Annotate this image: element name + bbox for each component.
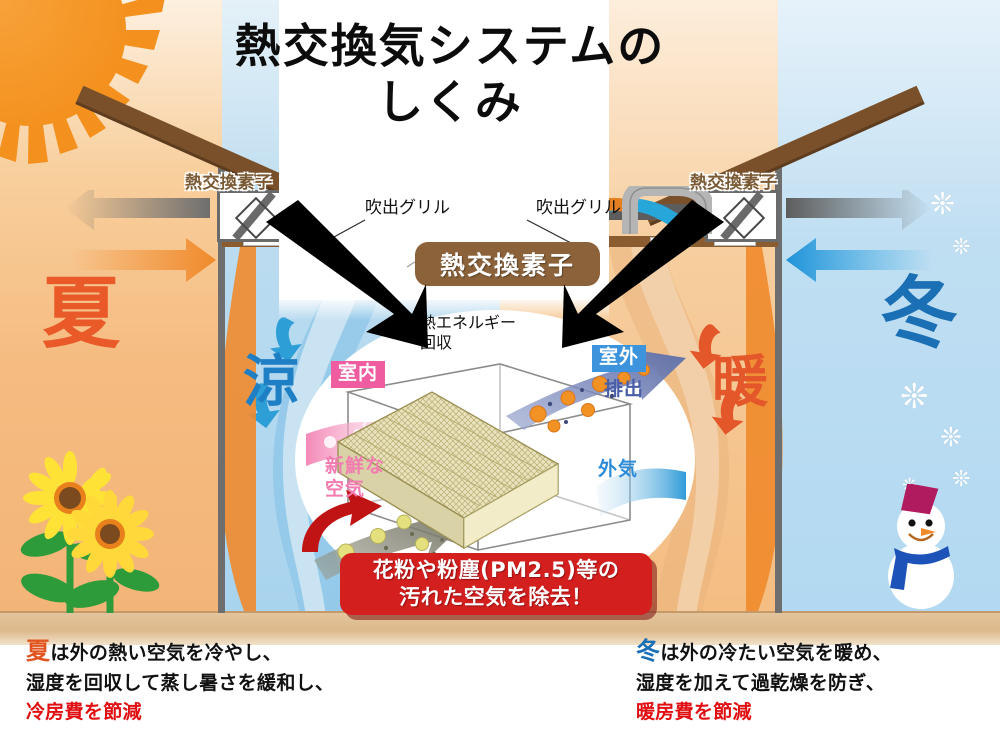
sun-icon [0,0,170,170]
page-title: 熱交換気システムの しくみ [170,18,730,130]
inner-kanji-warm: 暖 [712,355,768,411]
caption-winter-line-2: 湿度を加えて過乾燥を防ぎ、 [636,669,892,698]
tag-outdoor: 室外 [592,345,646,372]
caption-summer-season: 夏 [26,637,50,665]
banner-line-1: 花粉や粉塵(PM2.5)等の [373,557,620,584]
title-line-2: しくみ [170,74,730,130]
caption-winter: 冬は外の冷たい空気を暖め、 湿度を加えて過乾燥を防ぎ、 暖房費を節減 [636,633,892,727]
caption-winter-line-1: 冬は外の冷たい空気を暖め、 [636,633,892,669]
snowflake-icon: ❊ [940,424,962,450]
house-hx-label-left: 熱交換素子 [185,168,273,193]
label-outside-air: 外気 [598,458,638,481]
label-fresh-air: 新鮮な 空気 [325,455,385,501]
season-kanji-winter: 冬 [880,275,958,353]
snowflake-icon: ❊ [900,380,929,414]
sunflower-icon [18,448,168,616]
banner-line-2: 汚れた空気を除去！ [399,584,593,611]
caption-summer: 夏は外の熱い空気を冷やし、 湿度を回収して蒸し暑さを緩和し、 冷房費を節減 [26,633,334,727]
tag-indoor: 室内 [331,361,385,388]
caption-summer-rest: は外の熱い空気を冷やし、 [50,642,282,664]
diagram-canvas: ❊ ❊ ❊ ❊ ❊ ❊ [0,0,1000,749]
caption-winter-rest: は外の冷たい空気を暖め、 [660,642,892,664]
title-line-1: 熱交換気システムの [170,18,730,74]
caption-summer-saving: 冷房費を節減 [26,698,334,727]
snowman-icon [866,484,976,610]
pm25-banner: 花粉や粉塵(PM2.5)等の 汚れた空気を除去！ [340,553,652,615]
fresh-air-line-1: 新鮮な [325,455,385,478]
snowflake-icon: ❊ [952,236,970,258]
caption-winter-saving: 暖房費を節減 [636,698,892,727]
season-kanji-summer: 夏 [42,275,120,353]
caption-winter-season: 冬 [636,637,660,665]
fresh-air-line-2: 空気 [325,478,385,501]
caption-summer-line-2: 湿度を回収して蒸し暑さを緩和し、 [26,669,334,698]
inner-kanji-cool: 涼 [243,355,299,411]
caption-summer-line-1: 夏は外の熱い空気を冷やし、 [26,633,334,669]
label-exhaust: 排出 [604,378,644,401]
house-hx-label-right: 熱交換素子 [690,168,778,193]
callout-hx-element-label: 熱交換素子 [440,246,575,282]
